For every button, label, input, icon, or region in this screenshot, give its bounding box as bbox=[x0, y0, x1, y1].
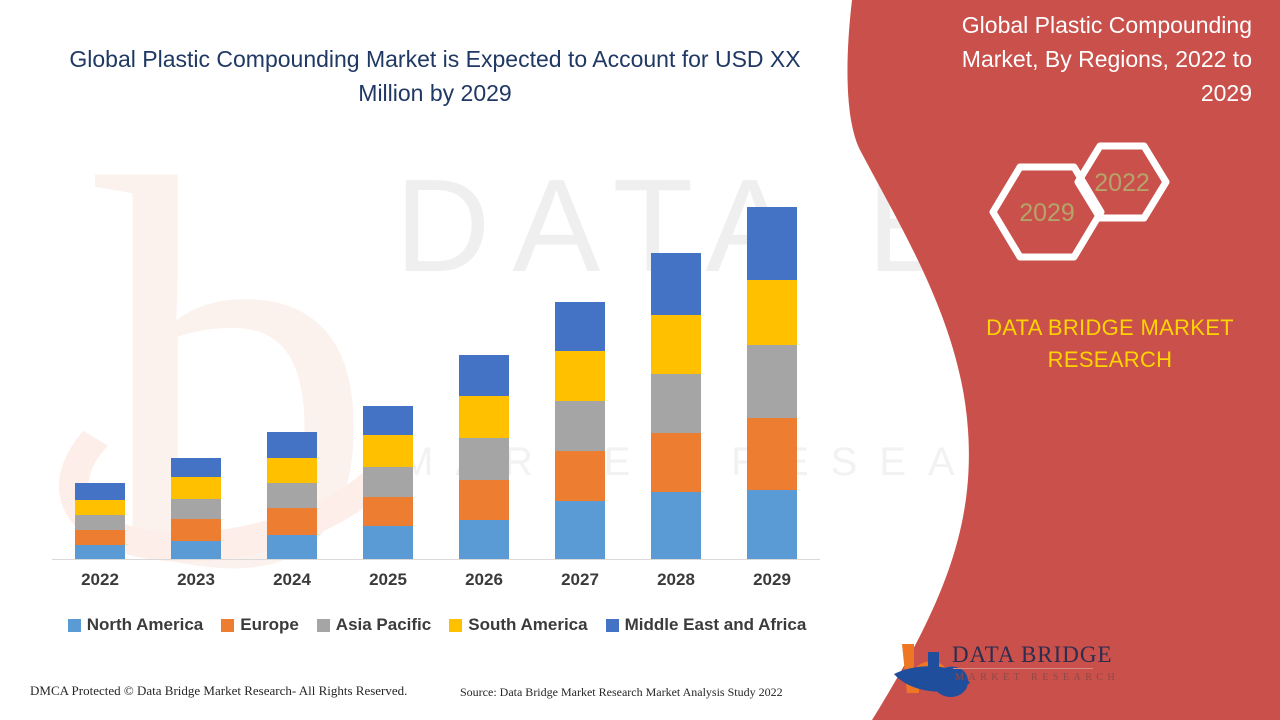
legend-item[interactable]: North America bbox=[68, 615, 204, 635]
stacked-bar[interactable] bbox=[747, 207, 797, 559]
legend-swatch bbox=[449, 619, 462, 632]
x-axis-label-2027: 2027 bbox=[532, 570, 628, 590]
bar-group-2024 bbox=[244, 432, 340, 559]
bar-segment[interactable] bbox=[459, 396, 509, 438]
bar-segment[interactable] bbox=[747, 490, 797, 559]
bar-segment[interactable] bbox=[651, 433, 701, 492]
bar-segment[interactable] bbox=[267, 508, 317, 535]
panel-title: Global Plastic Compounding Market, By Re… bbox=[940, 8, 1252, 110]
brand-line-1: DATA BRIDGE MARKET bbox=[986, 315, 1234, 340]
x-axis-label-2026: 2026 bbox=[436, 570, 532, 590]
legend-item[interactable]: Europe bbox=[221, 615, 299, 635]
bar-segment[interactable] bbox=[171, 499, 221, 519]
bar-segment[interactable] bbox=[651, 315, 701, 374]
stacked-bar[interactable] bbox=[267, 432, 317, 559]
bar-group-2029 bbox=[724, 207, 820, 559]
x-axis-label-2028: 2028 bbox=[628, 570, 724, 590]
bar-group-2022 bbox=[52, 483, 148, 559]
bar-segment[interactable] bbox=[651, 253, 701, 316]
stacked-bar[interactable] bbox=[75, 483, 125, 559]
legend-label: North America bbox=[87, 615, 204, 635]
legend-swatch bbox=[606, 619, 619, 632]
bar-segment[interactable] bbox=[747, 345, 797, 418]
bar-segment[interactable] bbox=[363, 467, 413, 498]
bar-segment[interactable] bbox=[459, 520, 509, 559]
stacked-bar[interactable] bbox=[651, 253, 701, 559]
bar-segment[interactable] bbox=[555, 501, 605, 559]
bar-segment[interactable] bbox=[459, 480, 509, 521]
bar-segment[interactable] bbox=[267, 458, 317, 483]
bar-segment[interactable] bbox=[651, 492, 701, 559]
bar-segment[interactable] bbox=[171, 541, 221, 559]
bar-segment[interactable] bbox=[363, 497, 413, 526]
bar-segment[interactable] bbox=[75, 515, 125, 529]
copyright-text: DMCA Protected © Data Bridge Market Rese… bbox=[30, 683, 407, 699]
bar-segment[interactable] bbox=[363, 406, 413, 435]
logo-wordmark: DATA BRIDGE bbox=[952, 642, 1113, 668]
bar-group-2026 bbox=[436, 355, 532, 559]
legend-swatch bbox=[221, 619, 234, 632]
bar-segment[interactable] bbox=[363, 435, 413, 467]
bar-group-2028 bbox=[628, 253, 724, 559]
bar-segment[interactable] bbox=[171, 477, 221, 499]
brand-name: DATA BRIDGE MARKET RESEARCH bbox=[960, 312, 1260, 376]
bar-segment[interactable] bbox=[747, 280, 797, 345]
bar-segment[interactable] bbox=[555, 401, 605, 451]
logo-divider bbox=[953, 668, 1093, 669]
chart-legend: North AmericaEuropeAsia PacificSouth Ame… bbox=[52, 615, 822, 635]
bar-segment[interactable] bbox=[75, 483, 125, 500]
x-axis-label-2024: 2024 bbox=[244, 570, 340, 590]
x-axis-label-2029: 2029 bbox=[724, 570, 820, 590]
bar-segment[interactable] bbox=[651, 374, 701, 433]
bar-segment[interactable] bbox=[75, 530, 125, 545]
page-title: Global Plastic Compounding Market is Exp… bbox=[55, 42, 815, 110]
legend-label: Europe bbox=[240, 615, 299, 635]
bar-segment[interactable] bbox=[459, 438, 509, 479]
bar-segment[interactable] bbox=[555, 302, 605, 351]
bar-segment[interactable] bbox=[459, 355, 509, 396]
chart-plot-area bbox=[52, 120, 820, 560]
bar-segment[interactable] bbox=[267, 535, 317, 559]
bar-segment[interactable] bbox=[363, 526, 413, 559]
legend-item[interactable]: Asia Pacific bbox=[317, 615, 431, 635]
bar-segment[interactable] bbox=[747, 207, 797, 280]
bar-group-2027 bbox=[532, 302, 628, 559]
legend-swatch bbox=[317, 619, 330, 632]
bar-segment[interactable] bbox=[171, 519, 221, 540]
stacked-bar[interactable] bbox=[459, 355, 509, 559]
hexagon-2029-label: 2029 bbox=[1019, 199, 1075, 227]
bar-segment[interactable] bbox=[267, 483, 317, 508]
infographic-page: b DATA BRIDGE MARKET RESEARCH Global Pla… bbox=[0, 0, 1280, 720]
stacked-bar[interactable] bbox=[555, 302, 605, 559]
bar-segment[interactable] bbox=[75, 545, 125, 559]
x-axis-line bbox=[52, 559, 820, 560]
bar-segment[interactable] bbox=[555, 451, 605, 501]
source-text: Source: Data Bridge Market Research Mark… bbox=[460, 685, 783, 700]
legend-swatch bbox=[68, 619, 81, 632]
bar-segment[interactable] bbox=[555, 351, 605, 401]
stacked-bar[interactable] bbox=[171, 458, 221, 560]
legend-label: Middle East and Africa bbox=[625, 615, 807, 635]
bar-segment[interactable] bbox=[267, 432, 317, 457]
bar-group-2023 bbox=[148, 458, 244, 560]
bar-group-2025 bbox=[340, 406, 436, 559]
hexagon-2022-label: 2022 bbox=[1094, 169, 1150, 197]
legend-item[interactable]: Middle East and Africa bbox=[606, 615, 807, 635]
legend-label: South America bbox=[468, 615, 587, 635]
hexagon-badges: 2029 2022 bbox=[975, 140, 1190, 285]
bar-segment[interactable] bbox=[747, 418, 797, 489]
bar-segment[interactable] bbox=[171, 458, 221, 477]
legend-label: Asia Pacific bbox=[336, 615, 431, 635]
logo-tagline: MARKET RESEARCH bbox=[955, 672, 1119, 683]
x-axis-labels: 20222023202420252026202720282029 bbox=[52, 570, 820, 598]
x-axis-label-2022: 2022 bbox=[52, 570, 148, 590]
brand-line-2: RESEARCH bbox=[1048, 347, 1173, 372]
x-axis-label-2023: 2023 bbox=[148, 570, 244, 590]
x-axis-label-2025: 2025 bbox=[340, 570, 436, 590]
legend-item[interactable]: South America bbox=[449, 615, 587, 635]
bar-segment[interactable] bbox=[75, 500, 125, 515]
stacked-bar[interactable] bbox=[363, 406, 413, 559]
